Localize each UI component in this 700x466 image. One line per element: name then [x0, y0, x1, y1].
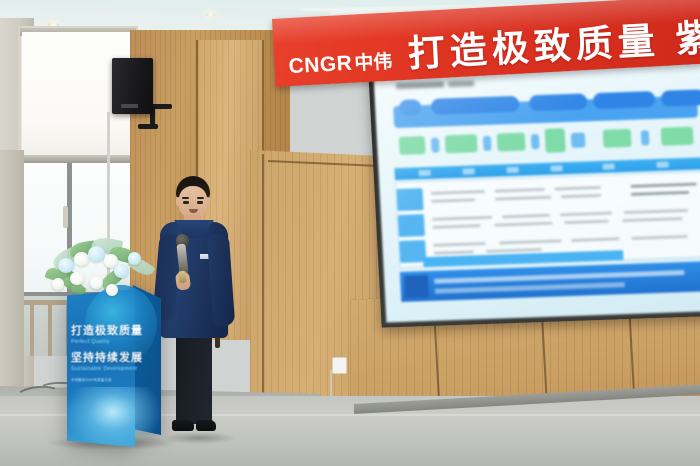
header-cell	[506, 167, 518, 173]
presentation-photo-scene: CNGR中伟 打造极致质量 紫	[0, 0, 700, 466]
presenter-legs	[176, 332, 212, 424]
presenter-brow	[197, 197, 204, 199]
header-cell	[419, 170, 431, 176]
process-step-1	[431, 96, 520, 115]
microphone-base	[178, 271, 186, 284]
table-text-line	[432, 224, 480, 229]
process-step-4	[661, 89, 700, 107]
flower-bloom	[88, 246, 105, 262]
flower-bloom	[70, 272, 84, 285]
table-text-line	[555, 186, 601, 191]
screen-surface	[373, 59, 700, 322]
lectern-headline-en: Perfect Quality	[71, 338, 137, 346]
table-text-line	[434, 250, 474, 254]
downlight-icon	[206, 12, 215, 17]
table-text-line	[495, 196, 551, 201]
process-step-3	[593, 91, 656, 109]
blind-bottom-bar	[22, 155, 134, 163]
flower-bloom	[114, 264, 129, 278]
banner-logo: CNGR中伟	[288, 47, 393, 80]
sub-box-green	[661, 127, 694, 146]
table-text-line	[495, 188, 545, 193]
sub-box-blue	[571, 132, 586, 147]
header-cell	[656, 162, 668, 168]
flower-bloom	[52, 278, 64, 290]
footer-label-box	[404, 275, 429, 298]
banner-logo-latin: CNGR	[288, 52, 353, 78]
sub-box-green	[497, 133, 526, 152]
table-text-line	[486, 248, 542, 253]
presenter-eye	[197, 201, 203, 204]
sub-box-blue	[483, 136, 492, 151]
table-text-line	[499, 239, 561, 244]
sub-box-green	[603, 129, 632, 148]
header-cell	[550, 165, 562, 171]
table-text-line	[494, 222, 552, 227]
flower-bloom	[90, 276, 103, 289]
footer-text-line	[435, 282, 625, 294]
flower-bloom	[128, 252, 141, 265]
lectern-subhead-en: Sustainable Development	[71, 365, 137, 373]
header-cell	[602, 163, 614, 169]
flower-bloom	[74, 252, 89, 266]
process-step-2	[529, 93, 588, 111]
presenter-ear	[205, 197, 210, 206]
table-text-line	[624, 209, 688, 214]
railing-post	[48, 300, 52, 356]
table-text-line	[631, 191, 689, 196]
banner-logo-chinese: 中伟	[354, 52, 393, 75]
process-step-0	[399, 99, 422, 116]
sub-box-green	[445, 134, 478, 153]
table-text-line	[631, 235, 687, 240]
lectern-text-block: 打造极致质量 Perfect Quality 坚持持续发展 Sustainabl…	[71, 325, 137, 383]
table-text-line	[631, 183, 697, 188]
presenter-shoe	[196, 420, 216, 431]
presenter-eye	[183, 201, 189, 204]
speaker-brand-badge	[121, 104, 138, 108]
sub-box-blue	[431, 138, 440, 153]
slide-footer-band	[400, 261, 700, 302]
presenter-brow	[182, 197, 189, 199]
table-text-line	[571, 237, 619, 242]
window-handle[interactable]	[63, 206, 68, 228]
footer-text-line	[434, 270, 684, 284]
presenter-ear	[176, 197, 181, 206]
table-text-line	[560, 212, 612, 217]
table-text-line	[564, 220, 608, 225]
sub-box-blue	[641, 130, 650, 145]
wood-panel-seam	[262, 154, 264, 400]
table-text-line	[431, 190, 485, 195]
presenter-shoe	[172, 420, 194, 431]
speaker-mount-bracket	[138, 124, 158, 129]
floral-arrangement	[44, 238, 164, 308]
table-row-label	[398, 214, 425, 237]
table-row-label	[396, 188, 423, 211]
lectern-headline-cn: 打造极致质量	[71, 325, 137, 338]
table-text-line	[622, 217, 682, 222]
table-text-line	[433, 242, 485, 247]
header-cell	[463, 168, 475, 174]
railing-post	[30, 300, 34, 356]
table-text-line	[432, 216, 492, 221]
table-text-line	[502, 214, 550, 219]
table-text-line	[431, 198, 475, 203]
lectern-footnote: 中伟股份2024年质量大会	[71, 378, 137, 383]
sub-box-green	[545, 128, 566, 153]
sub-box-green	[399, 136, 426, 155]
banner-slogan-truncated: 紫	[674, 7, 700, 63]
flower-bloom	[58, 258, 74, 273]
flower-bloom	[106, 284, 118, 296]
lectern-subhead-cn: 坚持持续发展	[71, 352, 137, 365]
slide-title-glyph	[448, 80, 474, 87]
sub-box-blue	[531, 134, 540, 149]
slide-title-glyph	[396, 81, 444, 89]
lectern-glow-graphic	[65, 387, 161, 449]
sub-process-row	[397, 123, 700, 158]
table-text-line	[561, 194, 601, 198]
projection-screen[interactable]	[368, 54, 700, 328]
